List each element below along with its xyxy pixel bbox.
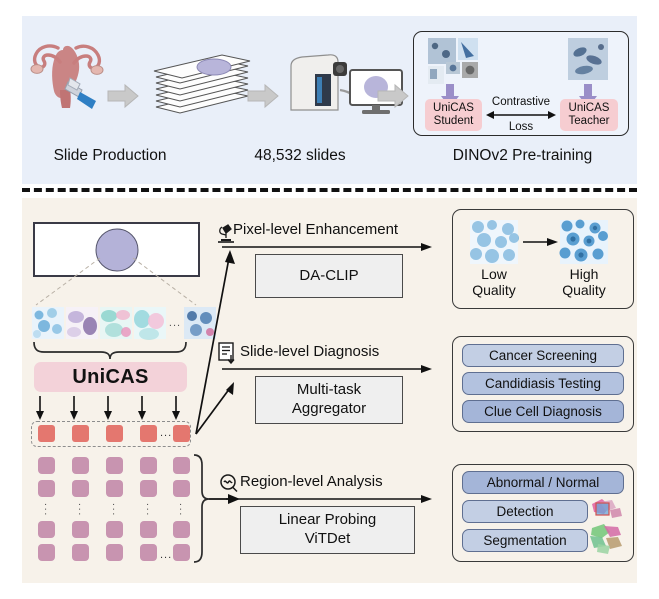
token-red-1 [38,425,55,442]
whole-slide-rect [33,222,200,277]
token-mauve-r2c1 [38,480,55,497]
token-row-ellipsis: ... [160,427,172,439]
chip-cancer-screening[interactable]: Cancer Screening [462,344,624,367]
chip-clue-cell-diagnosis[interactable]: Clue Cell Diagnosis [462,400,624,423]
task-title-slide-level: Slide-level Diagnosis [240,343,379,360]
teacher-line-1: UniCAS [569,102,610,115]
method-da-clip-line1: DA-CLIP [299,267,358,286]
token-mauve-r3c4 [140,521,157,538]
patch-thumb-4 [134,307,166,339]
chip-detection[interactable]: Detection [462,500,588,523]
token-mauve-r3c5 [173,521,190,538]
teacher-line-2: Teacher [569,115,610,128]
token-mauve-r4c5 [173,544,190,561]
patch-thumb-3 [100,307,132,339]
token-mauve-r2c3 [106,480,123,497]
low-quality-label-1: Low [466,266,522,282]
token-mauve-r4c2 [72,544,89,561]
section-divider [22,188,637,192]
method-region-line2: ViTDet [305,530,351,549]
token-red-5 [173,425,190,442]
token-mauve-r4c4 [140,544,157,561]
token-red-2 [72,425,89,442]
figure-root: UniCAS Student UniCAS Teacher Contrastiv… [0,0,659,599]
stage-label-slides-count: 48,532 slides [225,147,375,165]
token-mauve-r3c1 [38,521,55,538]
token-mauve-r1c5 [173,457,190,474]
token-mauve-r2c2 [72,480,89,497]
token-mauve-r4c1 [38,544,55,561]
grid-vdots-c1: ... [44,503,51,517]
token-mauve-r3c3 [106,521,123,538]
grid-row-ellipsis: ... [160,549,172,561]
task-title-pixel-level: Pixel-level Enhancement [233,221,398,238]
chip-abnormal-normal[interactable]: Abnormal / Normal [462,471,624,494]
grid-vdots-c2: ... [78,503,85,517]
task-title-region-level: Region-level Analysis [240,473,383,490]
student-line-2: Student [434,115,474,128]
chip-segmentation[interactable]: Segmentation [462,529,588,552]
method-box-linear-probing-vitdet[interactable]: Linear Probing ViTDet [240,506,415,554]
unicas-model-pill[interactable]: UniCAS [34,362,187,392]
token-mauve-r1c4 [140,457,157,474]
patch-thumb-1 [32,307,64,339]
token-mauve-r1c1 [38,457,55,474]
stage-label-dinov2: DINOv2 Pre-training [420,147,625,165]
low-quality-label-2: Quality [460,282,528,298]
grid-vdots-c4: ... [146,503,153,517]
stage-label-slide-production: Slide Production [30,147,190,165]
token-mauve-r2c5 [173,480,190,497]
chip-candidiasis-testing[interactable]: Candidiasis Testing [462,372,624,395]
token-mauve-r4c3 [106,544,123,561]
high-quality-label-1: High [556,266,612,282]
grid-vdots-c3: ... [112,503,119,517]
high-quality-label-2: Quality [550,282,618,298]
token-mauve-r1c2 [72,457,89,474]
token-red-3 [106,425,123,442]
grid-vdots-c5: ... [179,503,186,517]
patch-thumb-2 [66,307,98,339]
method-region-line1: Linear Probing [279,511,377,530]
unicas-teacher-chip[interactable]: UniCAS Teacher [560,99,618,131]
token-mauve-r3c2 [72,521,89,538]
token-mauve-r2c4 [140,480,157,497]
slide-specimen-blob [95,228,138,271]
patch-row-ellipsis: ... [168,307,182,339]
token-red-4 [140,425,157,442]
method-agg-line2: Aggregator [292,400,366,419]
unicas-student-chip[interactable]: UniCAS Student [425,99,482,131]
method-box-multitask-aggregator[interactable]: Multi-task Aggregator [255,376,403,424]
contrastive-loss-label-bottom: Loss [487,121,555,134]
method-box-da-clip[interactable]: DA-CLIP [255,254,403,298]
contrastive-loss-label-top: Contrastive [487,96,555,109]
token-mauve-r1c3 [106,457,123,474]
patch-thumb-5 [184,307,216,339]
patch-thumbnail-row: ... [32,307,216,339]
student-line-1: UniCAS [433,102,474,115]
method-agg-line1: Multi-task [297,381,361,400]
